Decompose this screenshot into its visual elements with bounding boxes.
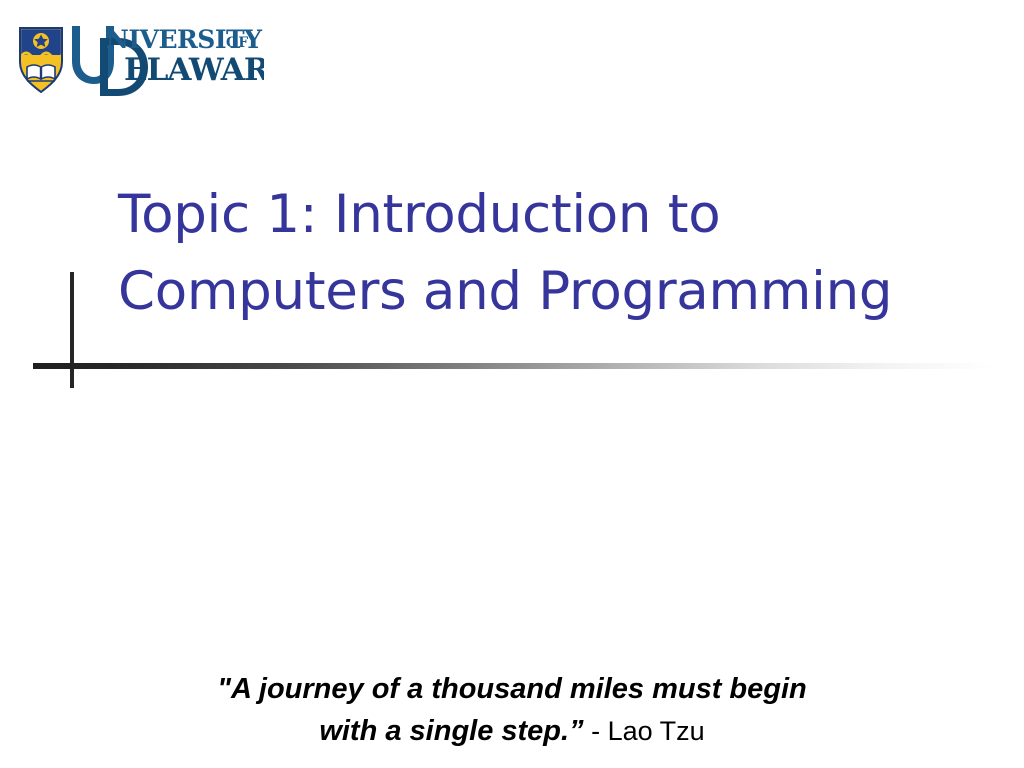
open-book-icon: [27, 65, 55, 79]
accent-vertical-rule: [70, 272, 74, 388]
shield-crest-icon: [20, 28, 62, 92]
logo-wordmark: NIVERSITY OF ELAWARE: [106, 25, 264, 88]
quote-text-line2: with a single step.”: [319, 715, 583, 747]
quote-line-2: with a single step.” - Lao Tzu: [0, 710, 1024, 752]
quote-attribution: - Lao Tzu: [584, 716, 705, 746]
svg-text:OF: OF: [226, 35, 248, 51]
svg-text:ELAWARE: ELAWARE: [124, 52, 264, 88]
quote-line-1: "A journey of a thousand miles must begi…: [0, 668, 1024, 710]
accent-horizontal-rule: [33, 363, 993, 369]
quote-text-line1: "A journey of a thousand miles must begi…: [217, 673, 807, 705]
logo-artwork: NIVERSITY OF ELAWARE: [14, 14, 264, 98]
page-title: Topic 1: Introduction to Computers and P…: [118, 176, 998, 330]
quote-block: "A journey of a thousand miles must begi…: [0, 668, 1024, 752]
university-of-delaware-logo: NIVERSITY OF ELAWARE: [14, 14, 264, 98]
